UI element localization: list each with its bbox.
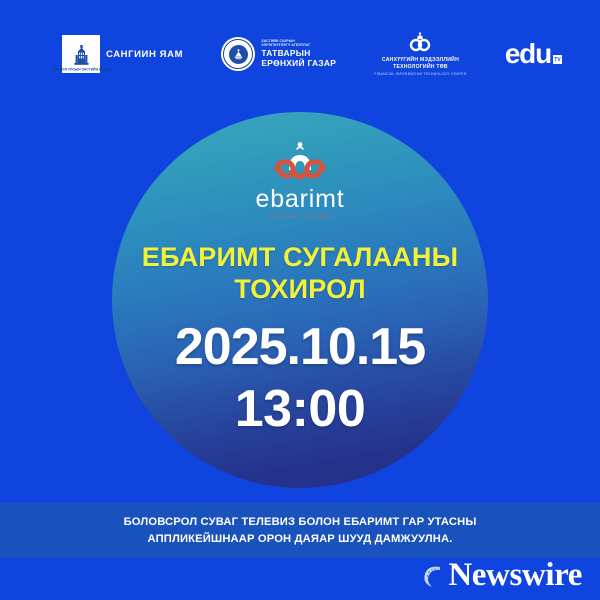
- seal-inner-emblem: [229, 45, 248, 64]
- headline: ЕБАРИМТ СУГАЛААНЫ ТОХИРОЛ: [142, 241, 458, 305]
- ebarimt-wordmark: ebarimt: [256, 186, 345, 212]
- circle-content: ebarimt E-BARIMT SYSTEM ЕБАРИМТ СУГАЛААН…: [112, 112, 488, 488]
- circular-seal-icon: [221, 37, 255, 71]
- tax-big-line-1: ТАТВАРЫН: [261, 49, 336, 59]
- ministry-name-label: САНГИИН ЯАМ: [106, 49, 183, 60]
- gradient-circle: ebarimt E-BARIMT SYSTEM ЕБАРИМТ СУГАЛААН…: [112, 112, 488, 488]
- tax-big-line-2: ЕРӨНХИЙ ГАЗАР: [261, 59, 336, 69]
- ebarimt-brand: ebarimt E-BARIMT SYSTEM: [256, 140, 345, 219]
- broadcast-banner: БОЛОВСРОЛ СУВАГ ТЕЛЕВИЗ БОЛОН ЕБАРИМТ ГА…: [0, 503, 600, 558]
- headline-line-2: ТОХИРОЛ: [142, 273, 458, 305]
- logo-edu-tv: edu TV: [505, 41, 562, 67]
- newswire-swoosh-icon: [420, 561, 446, 591]
- logo-fitc: САНХҮҮГИЙН МЭДЭЭЛЛИЙН ТЕХНОЛОГИЙН ТӨВ FI…: [374, 32, 466, 76]
- ebarimt-knot-icon: [269, 140, 331, 188]
- ministry-emblem-caption: МОНГОЛ УЛСЫН ЗАСГИЙН ГАЗАР: [52, 68, 110, 72]
- tax-small-line-2: ХЭРЭГЖҮҮЛЭГЧ АГЕНТЛАГ: [261, 43, 336, 47]
- fitc-name-line-2: ТЕХНОЛОГИЙН ТӨВ: [393, 64, 448, 70]
- fitc-subtitle: FINANCIAL INFORMATION TECHNOLOGY CENTER: [374, 72, 466, 76]
- logo-ministry-of-finance: МОНГОЛ УЛСЫН ЗАСГИЙН ГАЗАР САНГИИН ЯАМ: [62, 35, 183, 73]
- banner-line-2: АППЛИКЕЙШНААР ОРОН ДАЯАР ШУУД ДАМЖУУЛНА.: [124, 531, 477, 548]
- banner-text: БОЛОВСРОЛ СУВАГ ТЕЛЕВИЗ БОЛОН ЕБАРИМТ ГА…: [124, 514, 477, 548]
- poster-canvas: МОНГОЛ УЛСЫН ЗАСГИЙН ГАЗАР САНГИИН ЯАМ З…: [0, 0, 600, 600]
- ebarimt-tagline: E-BARIMT SYSTEM: [270, 214, 330, 219]
- banner-line-1: БОЛОВСРОЛ СУВАГ ТЕЛЕВИЗ БОЛОН ЕБАРИМТ ГА…: [124, 514, 477, 531]
- newswire-watermark: Newswire: [420, 559, 582, 592]
- tax-authority-text: ЗАСГИЙН ГАЗРЫН ХЭРЭГЖҮҮЛЭГЧ АГЕНТЛАГ ТАТ…: [261, 39, 336, 69]
- edu-wordmark: edu: [505, 41, 551, 67]
- building-glyph: [73, 45, 90, 67]
- partner-logo-bar: МОНГОЛ УЛСЫН ЗАСГИЙН ГАЗАР САНГИИН ЯАМ З…: [0, 0, 600, 108]
- event-date: 2025.10.15: [175, 319, 425, 375]
- soyombo-knot-icon: [407, 32, 433, 56]
- newswire-wordmark: Newswire: [448, 559, 582, 592]
- fitc-name-line-1: САНХҮҮГИЙН МЭДЭЭЛЛИЙН: [382, 57, 459, 63]
- government-building-icon: МОНГОЛ УЛСЫН ЗАСГИЙН ГАЗАР: [62, 35, 100, 73]
- logo-tax-authority: ЗАСГИЙН ГАЗРЫН ХЭРЭГЖҮҮЛЭГЧ АГЕНТЛАГ ТАТ…: [221, 37, 336, 71]
- edu-badge: TV: [553, 55, 562, 64]
- headline-line-1: ЕБАРИМТ СУГАЛААНЫ: [142, 241, 458, 273]
- event-time: 13:00: [235, 381, 366, 437]
